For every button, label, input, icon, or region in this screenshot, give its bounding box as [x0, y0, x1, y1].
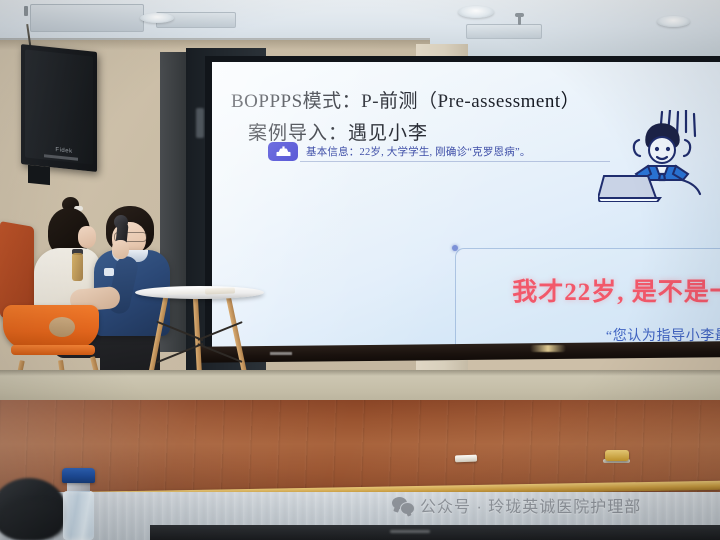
watermark-text: 公众号 · 玲珑英诚医院护理部: [420, 493, 641, 517]
watermark: 公众号 · 玲珑英诚医院护理部: [392, 493, 641, 517]
wechat-icon: [392, 497, 413, 514]
orange-chair: [3, 305, 99, 371]
ceiling-light-3: [657, 16, 690, 27]
presenter-b-badge: [104, 268, 114, 276]
ceiling-hook: [24, 6, 28, 16]
hospital-icon: [268, 142, 298, 161]
projection-screen: BOPPPS模式：P-前测（Pre-assessment） 案例导入：遇见小李 …: [212, 62, 720, 350]
sprinkler-stem: [518, 16, 521, 25]
tabletop-bottle: [72, 253, 83, 281]
bottle-neck: [67, 482, 90, 492]
basic-info-row: 基本信息：22岁, 大学学生, 刚确诊“克罗恩病”。: [268, 140, 608, 162]
photo-scene: Fidek BOPPPS模式：P-前测（Pre-assessment） 案例导入…: [0, 0, 720, 540]
ceiling-vent-left: [30, 4, 144, 32]
floor-item-gold: [605, 450, 629, 461]
rail-light-reflection: [530, 345, 566, 352]
patient-quote-red: 我才22岁, 是不是一辈子都完了？: [487, 272, 720, 308]
bottle-cap: [62, 468, 95, 483]
floor-item-white-card: [455, 455, 477, 463]
stage-front-glint: [390, 530, 430, 533]
audience-shoulder-foreground: [0, 500, 64, 540]
speaker-bracket: [28, 165, 50, 185]
card-anchor-dot: [452, 245, 458, 251]
rail-light-reflection-2: [270, 352, 292, 355]
stage-wall-shadow: [0, 370, 720, 376]
basic-info-text: 基本信息：22岁, 大学学生, 刚确诊“克罗恩病”。: [306, 144, 531, 159]
basic-info-underline: [300, 161, 610, 162]
water-bottle: [62, 468, 95, 540]
presenter-a-face: [78, 226, 96, 248]
stressed-student-illustration: [598, 110, 714, 202]
chair-seat: [11, 345, 95, 355]
bottle-body: [63, 491, 94, 540]
table-paper-2: [205, 287, 235, 294]
ceiling-light-2: [458, 6, 494, 18]
stage-front-shadow: [150, 525, 720, 540]
chair-cutout: [49, 317, 75, 337]
slide-title: BOPPPS模式：P-前测（Pre-assessment）: [231, 86, 580, 113]
presenter-b-hand: [112, 240, 129, 259]
recess-reflection-1: [196, 108, 204, 138]
floor-reflection: [0, 400, 720, 492]
ceiling-light-1: [140, 13, 174, 23]
ceiling-vent-right: [466, 24, 542, 39]
